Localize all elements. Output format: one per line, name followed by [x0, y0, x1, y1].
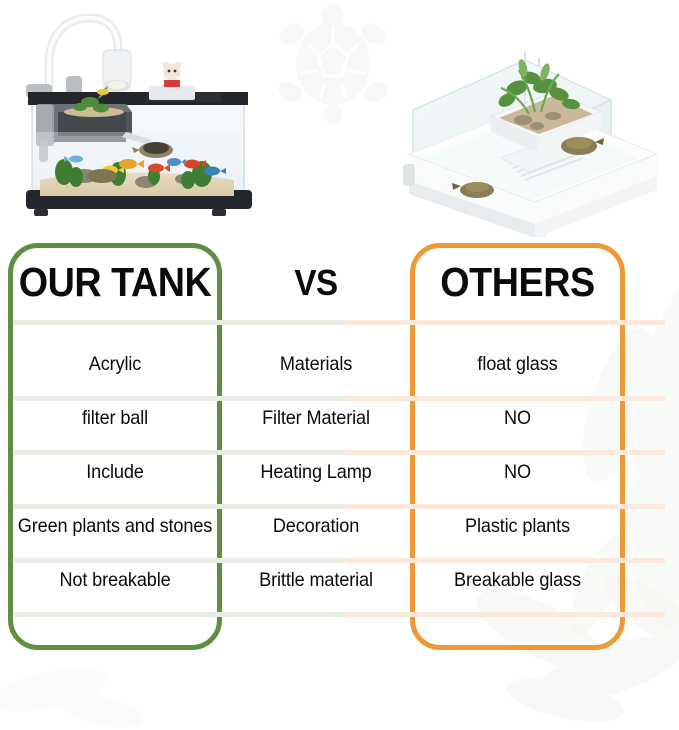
others-tank-photo: [395, 42, 670, 237]
cell-feature: Brittle material: [231, 570, 400, 590]
row-divider: [14, 558, 665, 563]
turtle-watermark: [268, 4, 398, 124]
table-header-row: OUR TANK VS OTHERS: [0, 246, 679, 320]
cell-ours: Not breakable: [15, 570, 214, 590]
cell-others: NO: [418, 408, 618, 428]
row-divider: [14, 504, 665, 509]
header-vs: VS: [232, 264, 399, 302]
cell-others: Breakable glass: [418, 570, 618, 590]
header-our-tank: OUR TANK: [17, 261, 214, 304]
cell-ours: filter ball: [15, 408, 214, 428]
cell-feature: Heating Lamp: [231, 462, 400, 482]
cell-ours: Include: [15, 462, 214, 482]
row-divider: [14, 320, 665, 325]
cell-others: NO: [418, 462, 618, 482]
cell-others: float glass: [418, 354, 618, 374]
comparison-rows: OUR TANK VS OTHERS Acrylic Materials flo…: [0, 236, 679, 660]
cell-others: Plastic plants: [418, 516, 618, 536]
header-others: OTHERS: [419, 261, 617, 304]
cell-feature: Materials: [231, 354, 400, 374]
our-tank-photo: [6, 4, 276, 234]
comparison-table: OUR TANK VS OTHERS Acrylic Materials flo…: [0, 236, 679, 660]
cell-feature: Decoration: [231, 516, 400, 536]
cell-feature: Filter Material: [231, 408, 400, 428]
cell-ours: Acrylic: [15, 354, 214, 374]
row-divider: [14, 450, 665, 455]
row-divider: [14, 396, 665, 401]
cell-ours: Green plants and stones: [15, 516, 214, 536]
row-divider: [14, 612, 665, 617]
